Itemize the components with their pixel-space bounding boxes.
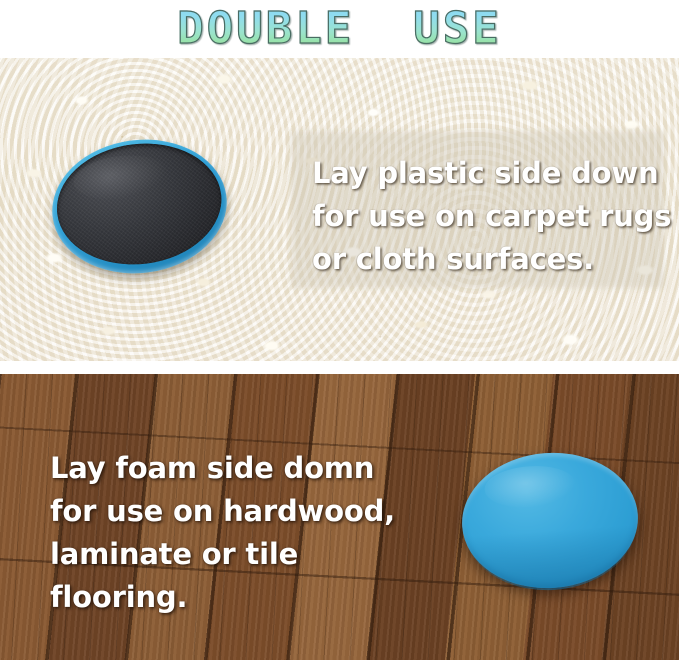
page-title: DOUBLE USE: [177, 6, 501, 52]
carpet-caption-line-3: or cloth surfaces.: [312, 238, 662, 281]
wood-caption-line-3: laminate or tile: [50, 533, 470, 576]
title-banner: DOUBLE USE: [0, 0, 679, 57]
carpet-caption-line-2: for use on carpet rugs: [312, 195, 662, 238]
carpet-caption: Lay plastic side down for use on carpet …: [312, 152, 662, 281]
wood-caption-line-4: flooring.: [50, 576, 470, 619]
slider-disc-plastic-side: [458, 447, 643, 594]
slider-disc-foam-side: [45, 130, 235, 283]
wood-caption-line-1: Lay foam side domn: [50, 447, 470, 490]
product-infographic: DOUBLE USE Lay plastic side down for use…: [0, 0, 679, 665]
carpet-caption-line-1: Lay plastic side down: [312, 152, 662, 195]
wood-caption-line-2: for use on hardwood,: [50, 490, 470, 533]
wood-caption: Lay foam side domn for use on hardwood, …: [50, 447, 470, 619]
